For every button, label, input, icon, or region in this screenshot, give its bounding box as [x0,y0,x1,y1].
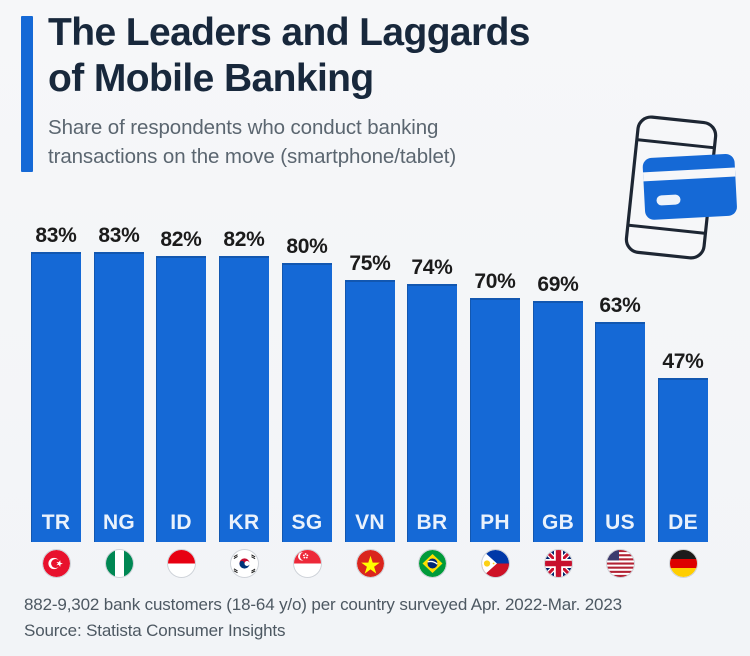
flag-tr-icon [43,550,70,577]
flag-kr-icon [231,550,258,577]
footnote-sample-size: 882-9,302 bank customers (18-64 y/o) per… [24,592,730,618]
flag-vn-icon [357,550,384,577]
flag-ng-icon [106,550,133,577]
bar-value-label-kr: 82% [210,228,278,252]
bar-vn[interactable] [345,280,395,542]
bar-value-label-de: 47% [649,350,717,374]
bar-value-label-tr: 83% [22,224,90,248]
bar-ph[interactable] [470,298,520,542]
bar-country-code-ph: PH [470,511,520,535]
bar-country-code-vn: VN [345,511,395,535]
bar-value-label-ng: 83% [85,224,153,248]
bar-country-code-de: DE [658,511,708,535]
bar-country-code-kr: KR [219,511,269,535]
flag-br-icon [419,550,446,577]
bar-country-code-tr: TR [31,511,81,535]
bar-value-label-br: 74% [398,256,466,280]
flag-id-icon [168,550,195,577]
bar-id[interactable] [156,256,206,542]
bar-br[interactable] [407,284,457,542]
bar-tr[interactable] [31,252,81,542]
bar-value-label-ph: 70% [461,270,529,294]
bar-ng[interactable] [94,252,144,542]
bar-us[interactable] [595,322,645,542]
bar-country-code-sg: SG [282,511,332,535]
bar-sg[interactable] [282,263,332,542]
bar-value-label-sg: 80% [273,235,341,259]
bar-value-label-id: 82% [147,228,215,252]
bar-kr[interactable] [219,256,269,542]
bar-value-label-gb: 69% [524,273,592,297]
infographic-root: The Leaders and Laggards of Mobile Banki… [0,0,750,656]
bar-country-code-ng: NG [94,511,144,535]
bar-country-code-br: BR [407,511,457,535]
bar-gb[interactable] [533,301,583,542]
bar-chart: 83%TR83%NG82%ID82%KR80%SG75%VN74%BR70%PH… [0,0,750,656]
bar-value-label-us: 63% [586,294,654,318]
flag-gb-icon [545,550,572,577]
bar-country-code-gb: GB [533,511,583,535]
flag-de-icon [670,550,697,577]
bar-country-code-us: US [595,511,645,535]
flag-us-icon [607,550,634,577]
footnote-source: Source: Statista Consumer Insights [24,618,730,644]
flag-sg-icon [294,550,321,577]
bar-country-code-id: ID [156,511,206,535]
bar-value-label-vn: 75% [336,252,404,276]
flag-ph-icon [482,550,509,577]
chart-footnote: 882-9,302 bank customers (18-64 y/o) per… [24,592,730,644]
